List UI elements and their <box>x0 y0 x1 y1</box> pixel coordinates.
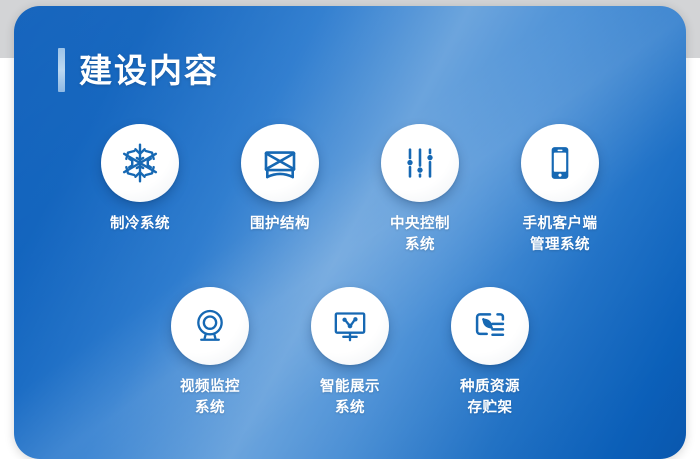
items-row-1: 制冷系统 <box>14 124 686 255</box>
items-row-2: 视频监控 系统 <box>14 287 686 418</box>
content-panel: 建设内容 <box>14 6 686 459</box>
item-cooling-system[interactable]: 制冷系统 <box>92 124 188 235</box>
item-smart-display-system[interactable]: 智能展示 系统 <box>302 287 398 418</box>
icon-bubble <box>311 287 389 365</box>
webcam-icon <box>190 306 230 346</box>
items-grid: 制冷系统 <box>14 124 686 418</box>
snowflake-icon <box>118 141 162 185</box>
item-video-surveillance-system[interactable]: 视频监控 系统 <box>162 287 258 418</box>
item-label: 种质资源 存贮架 <box>460 377 520 418</box>
item-central-control-system[interactable]: 中央控制 系统 <box>372 124 468 255</box>
item-mobile-client-system[interactable]: 手机客户端 管理系统 <box>512 124 608 255</box>
icon-bubble <box>241 124 319 202</box>
item-envelope-structure[interactable]: 围护结构 <box>232 124 328 235</box>
monitor-network-icon <box>330 306 370 346</box>
envelope-structure-icon <box>259 142 301 184</box>
smartphone-icon <box>540 143 580 183</box>
icon-bubble <box>381 124 459 202</box>
item-label: 智能展示 系统 <box>320 377 380 418</box>
title-accent-bar <box>58 48 65 92</box>
item-label: 视频监控 系统 <box>180 377 240 418</box>
item-label: 制冷系统 <box>110 214 170 235</box>
icon-bubble <box>171 287 249 365</box>
panel-header: 建设内容 <box>58 48 219 92</box>
slide-canvas: 建设内容 <box>0 0 700 459</box>
seed-shelf-icon <box>470 306 510 346</box>
item-label: 围护结构 <box>250 214 310 235</box>
item-germplasm-storage-rack[interactable]: 种质资源 存贮架 <box>442 287 538 418</box>
item-label: 手机客户端 管理系统 <box>523 214 598 255</box>
sliders-icon <box>400 143 440 183</box>
icon-bubble <box>101 124 179 202</box>
icon-bubble <box>521 124 599 202</box>
page-title: 建设内容 <box>79 54 219 87</box>
icon-bubble <box>451 287 529 365</box>
item-label: 中央控制 系统 <box>390 214 450 255</box>
